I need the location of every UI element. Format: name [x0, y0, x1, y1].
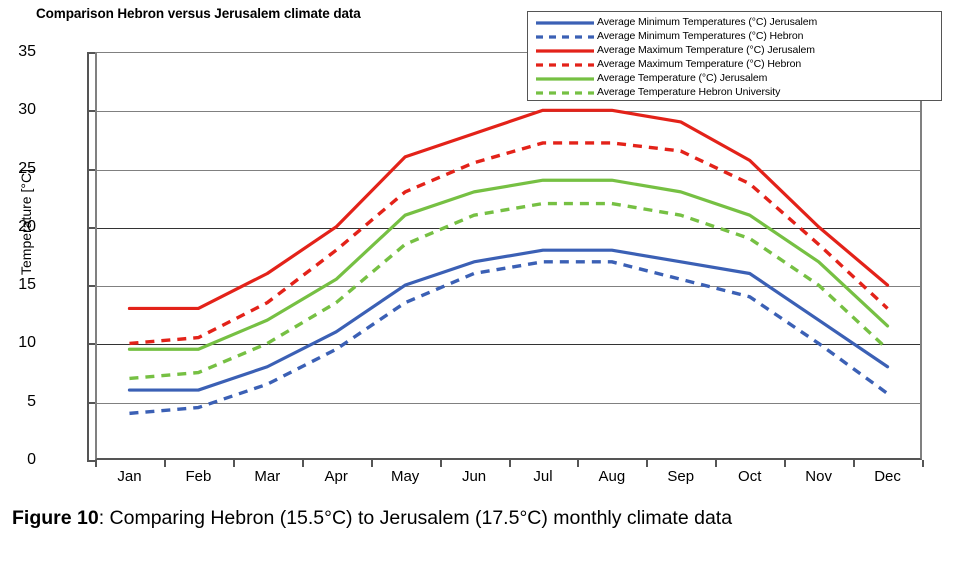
x-tick-mark: [302, 460, 304, 467]
y-tick-mark: [87, 460, 95, 462]
legend-item-label: Average Maximum Temperature (°C) Hebron: [597, 58, 801, 70]
legend-swatch-icon: [536, 58, 594, 70]
x-tick-mark: [164, 460, 166, 467]
y-tick-mark: [87, 285, 95, 287]
gridline: [97, 228, 920, 229]
figure-caption-prefix: Figure 10: [12, 507, 99, 529]
legend-swatch-icon: [536, 44, 594, 56]
x-tick-mark: [440, 460, 442, 467]
y-tick-label: 10: [0, 334, 36, 352]
legend-item: Average Maximum Temperature (°C) Hebron: [528, 57, 941, 71]
legend-swatch-icon: [536, 86, 594, 98]
x-tick-label-mar: Mar: [232, 468, 302, 485]
y-tick-label: 30: [0, 101, 36, 119]
x-tick-label-jul: Jul: [508, 468, 578, 485]
legend-item-label: Average Minimum Temperatures (°C) Jerusa…: [597, 16, 817, 28]
y-tick-mark: [87, 110, 95, 112]
legend-item: Average Minimum Temperatures (°C) Jerusa…: [528, 15, 941, 29]
y-tick-label: 35: [0, 43, 36, 61]
x-tick-label-jun: Jun: [439, 468, 509, 485]
legend-item-label: Average Temperature Hebron University: [597, 86, 780, 98]
figure-caption-text: : Comparing Hebron (15.5°C) to Jerusalem…: [99, 507, 732, 529]
x-tick-label-feb: Feb: [163, 468, 233, 485]
y-tick-label: 15: [0, 276, 36, 294]
legend-item: Average Temperature (°C) Jerusalem: [528, 71, 941, 85]
legend-swatch-icon: [536, 30, 594, 42]
x-tick-mark: [853, 460, 855, 467]
x-tick-mark: [646, 460, 648, 467]
y-tick-mark: [87, 402, 95, 404]
figure-10-climate-chart: Comparison Hebron versus Jerusalem clima…: [0, 0, 960, 585]
legend-item: Average Temperature Hebron University: [528, 85, 941, 99]
x-tick-mark: [922, 460, 924, 467]
x-tick-label-apr: Apr: [301, 468, 371, 485]
legend-swatch-icon: [536, 72, 594, 84]
chart-legend: Average Minimum Temperatures (°C) Jerusa…: [527, 11, 942, 101]
y-tick-mark: [87, 227, 95, 229]
y-tick-mark: [87, 169, 95, 171]
x-tick-label-nov: Nov: [784, 468, 854, 485]
y-tick-label: 0: [0, 451, 36, 469]
x-tick-mark: [371, 460, 373, 467]
x-tick-mark: [577, 460, 579, 467]
legend-item: Average Maximum Temperature (°C) Jerusal…: [528, 43, 941, 57]
x-tick-mark: [715, 460, 717, 467]
x-tick-mark: [509, 460, 511, 467]
chart-title: Comparison Hebron versus Jerusalem clima…: [36, 6, 361, 21]
plot-area: [95, 52, 922, 460]
gridline: [97, 286, 920, 287]
x-tick-mark: [95, 460, 97, 467]
x-tick-mark: [784, 460, 786, 467]
x-tick-label-jan: Jan: [94, 468, 164, 485]
x-tick-label-oct: Oct: [715, 468, 785, 485]
y-axis-spine: [87, 52, 89, 461]
x-tick-label-dec: Dec: [853, 468, 923, 485]
gridline: [97, 170, 920, 171]
y-tick-mark: [87, 343, 95, 345]
y-tick-label: 20: [0, 218, 36, 236]
x-tick-mark: [233, 460, 235, 467]
x-tick-label-aug: Aug: [577, 468, 647, 485]
x-tick-label-may: May: [370, 468, 440, 485]
figure-caption: Figure 10: Comparing Hebron (15.5°C) to …: [12, 505, 942, 531]
y-tick-label: 5: [0, 393, 36, 411]
legend-item-label: Average Minimum Temperatures (°C) Hebron: [597, 30, 803, 42]
y-tick-label: 25: [0, 160, 36, 178]
y-tick-mark: [87, 52, 95, 54]
gridline: [97, 111, 920, 112]
x-tick-label-sep: Sep: [646, 468, 716, 485]
legend-item: Average Minimum Temperatures (°C) Hebron: [528, 29, 941, 43]
legend-swatch-icon: [536, 16, 594, 28]
legend-item-label: Average Maximum Temperature (°C) Jerusal…: [597, 44, 815, 56]
legend-item-label: Average Temperature (°C) Jerusalem: [597, 72, 767, 84]
gridline: [97, 344, 920, 345]
gridline: [97, 403, 920, 404]
